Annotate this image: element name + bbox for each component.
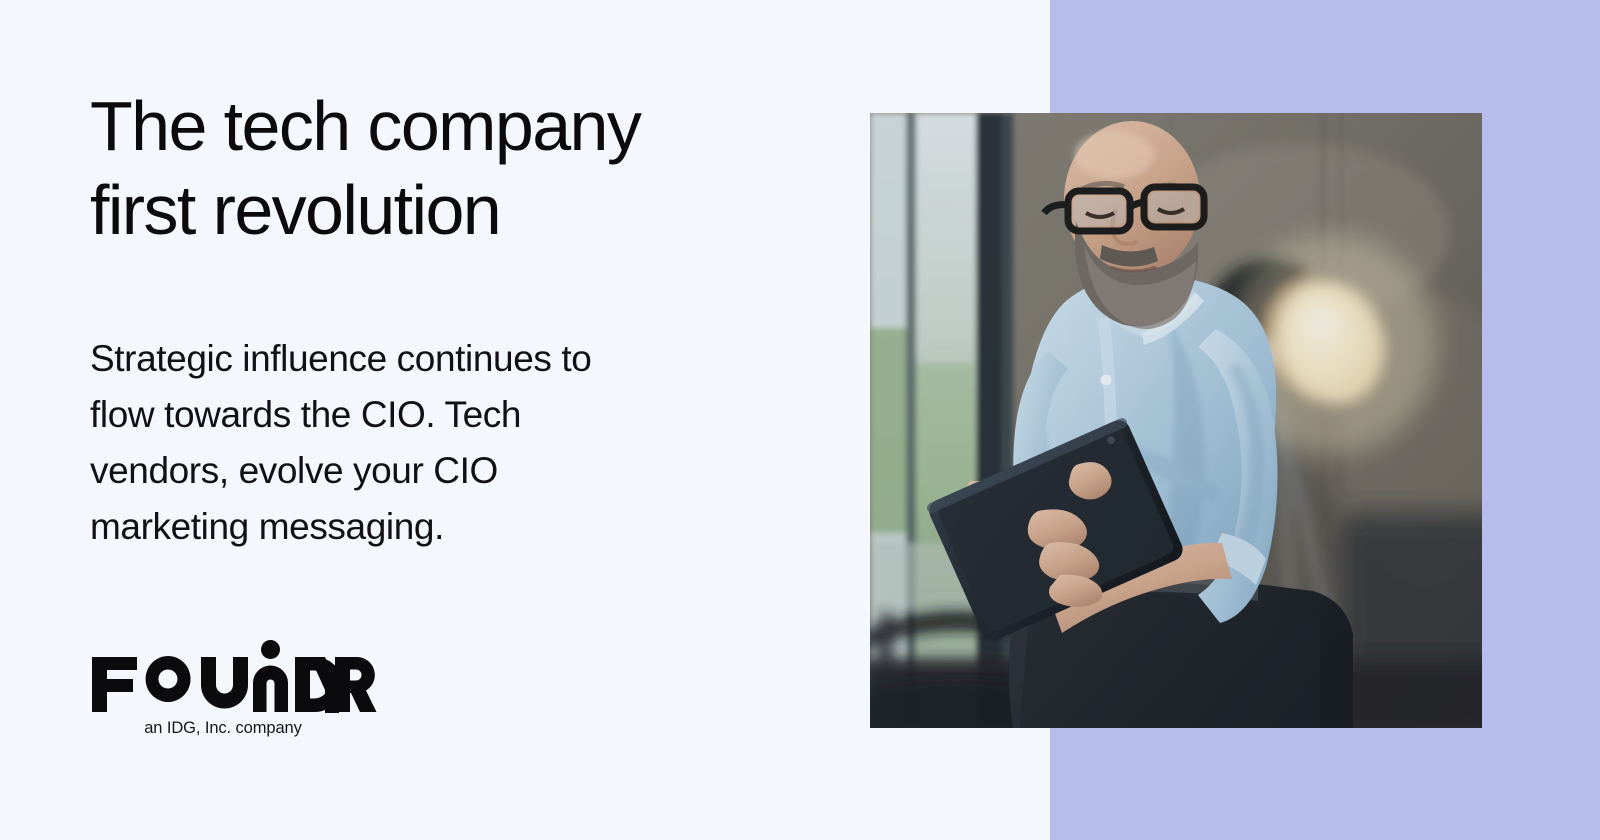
content-column: The tech company first revolution Strate… xyxy=(90,0,790,840)
foundry-logo-y-glyph xyxy=(310,657,350,713)
slide-canvas: The tech company first revolution Strate… xyxy=(0,0,1600,840)
page-title: The tech company first revolution xyxy=(90,84,780,252)
hero-photo xyxy=(870,113,1482,728)
foundry-logo-lockup: an IDG, Inc. company xyxy=(86,640,446,738)
hero-photo-illustration xyxy=(870,113,1482,728)
logo-tagline: an IDG, Inc. company xyxy=(90,719,356,738)
subheadline-text: Strategic influence continues to flow to… xyxy=(90,331,760,555)
